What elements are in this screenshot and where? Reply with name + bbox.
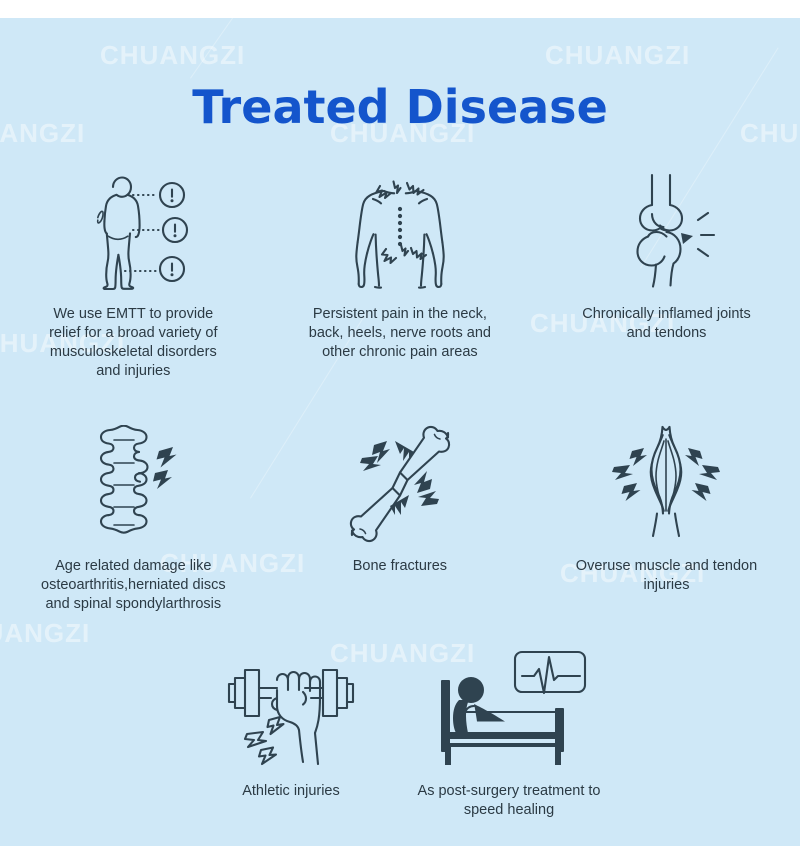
grid-spacer bbox=[0, 650, 182, 820]
card-caption: Bone fractures bbox=[291, 557, 509, 576]
poster-panel: CHUANGZI CHUANGZI CHUANGZI CHUANGZI CHUA… bbox=[0, 18, 800, 846]
back-spine-pain-icon bbox=[339, 173, 461, 291]
broken-bone-icon bbox=[336, 425, 464, 543]
card-treated-disease-1: We use EMTT to provide relief for a broa… bbox=[0, 173, 267, 381]
card-treated-disease-6: Overuse muscle and tendon injuries bbox=[533, 425, 800, 614]
dumbbell-fist-icon bbox=[225, 650, 357, 768]
card-caption: Persistent pain in the neck, back, heels… bbox=[291, 305, 509, 362]
card-treated-disease-7: Athletic injuries bbox=[182, 650, 400, 820]
muscle-fiber-icon bbox=[602, 425, 730, 543]
grid-spacer bbox=[618, 650, 800, 820]
card-treated-disease-4: Age related damage like osteoarthritis,h… bbox=[0, 425, 267, 614]
page-title: Treated Disease bbox=[0, 80, 800, 134]
inflamed-knee-joint-icon bbox=[606, 173, 726, 291]
card-row: Age related damage like osteoarthritis,h… bbox=[0, 425, 800, 614]
hospital-bed-ecg-icon bbox=[429, 650, 589, 768]
card-grid: We use EMTT to provide relief for a broa… bbox=[0, 173, 800, 820]
card-caption: Chronically inflamed joints and tendons bbox=[557, 305, 775, 343]
card-treated-disease-8: As post-surgery treatment to speed heali… bbox=[400, 650, 618, 820]
card-treated-disease-3: Chronically inflamed joints and tendons bbox=[533, 173, 800, 381]
vertebrae-stack-icon bbox=[71, 425, 196, 543]
card-caption: We use EMTT to provide relief for a broa… bbox=[24, 305, 242, 381]
card-treated-disease-5: Bone fractures bbox=[267, 425, 534, 614]
poster-page: CHUANGZI CHUANGZI CHUANGZI CHUANGZI CHUA… bbox=[0, 0, 800, 868]
card-caption: Athletic injuries bbox=[182, 782, 400, 801]
watermark-text: CHUANGZI bbox=[545, 40, 690, 71]
card-caption: Age related damage like osteoarthritis,h… bbox=[24, 557, 242, 614]
card-treated-disease-2: Persistent pain in the neck, back, heels… bbox=[267, 173, 534, 381]
card-row: Athletic injuries bbox=[0, 650, 800, 820]
watermark-text: CHUANGZI bbox=[100, 40, 245, 71]
human-body-pain-points-icon bbox=[73, 173, 193, 291]
card-caption: Overuse muscle and tendon injuries bbox=[557, 557, 775, 595]
card-row: We use EMTT to provide relief for a broa… bbox=[0, 173, 800, 381]
card-caption: As post-surgery treatment to speed heali… bbox=[400, 782, 618, 820]
